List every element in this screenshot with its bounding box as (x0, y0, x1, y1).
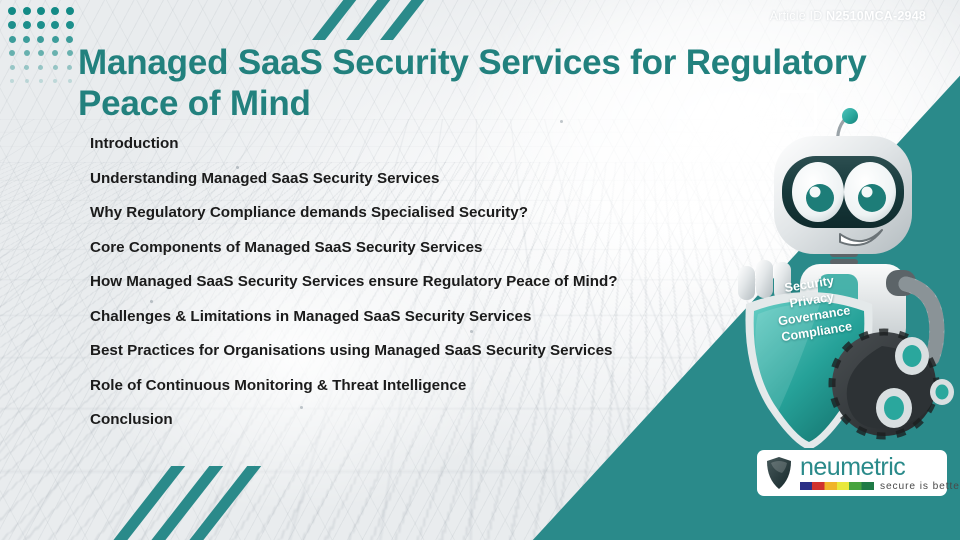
article-id: Article ID N2510MCA-2948 (770, 9, 926, 23)
robot-eye-highlight-left (810, 187, 821, 198)
dot-grid-decoration (5, 4, 77, 88)
robot-mascot: Security Privacy Governance Compliance (736, 108, 960, 448)
toc-item[interactable]: Conclusion (90, 412, 750, 427)
logo-rainbow-bar (800, 482, 874, 490)
toc-item[interactable]: Role of Continuous Monitoring & Threat I… (90, 378, 750, 393)
robot-pupil-right (858, 184, 886, 212)
article-id-value: N2510MCA-2948 (826, 9, 926, 23)
robot-eye-highlight-right (862, 187, 873, 198)
toc-item[interactable]: Challenges & Limitations in Managed SaaS… (90, 309, 750, 324)
toc-item[interactable]: Understanding Managed SaaS Security Serv… (90, 171, 750, 186)
slide-canvas: Article ID N2510MCA-2948 Managed SaaS Se… (0, 0, 960, 540)
toc-item[interactable]: Best Practices for Organisations using M… (90, 343, 750, 358)
diagonal-stripes-bottom (140, 466, 270, 540)
robot-mascot-illustration (736, 108, 960, 448)
article-id-label: Article ID (770, 9, 823, 23)
logo-tagline: secure is better (880, 481, 960, 492)
toc-item[interactable]: How Managed SaaS Security Services ensur… (90, 274, 750, 289)
logo-text-block: neumetric secure is better (800, 455, 960, 492)
logo-wordmark: neumetric (800, 455, 960, 479)
toc-item[interactable]: Introduction (90, 136, 750, 151)
neumetric-logo[interactable]: neumetric secure is better (757, 450, 947, 496)
robot-pupil-left (806, 184, 834, 212)
table-of-contents: Introduction Understanding Managed SaaS … (90, 136, 750, 447)
logo-bottom-row: secure is better (800, 481, 960, 492)
logo-shield-icon (765, 456, 793, 490)
toc-item[interactable]: Why Regulatory Compliance demands Specia… (90, 205, 750, 220)
toc-item[interactable]: Core Components of Managed SaaS Security… (90, 240, 750, 255)
diagonal-stripes-top (330, 0, 450, 40)
robot-antenna-ball (842, 108, 858, 124)
